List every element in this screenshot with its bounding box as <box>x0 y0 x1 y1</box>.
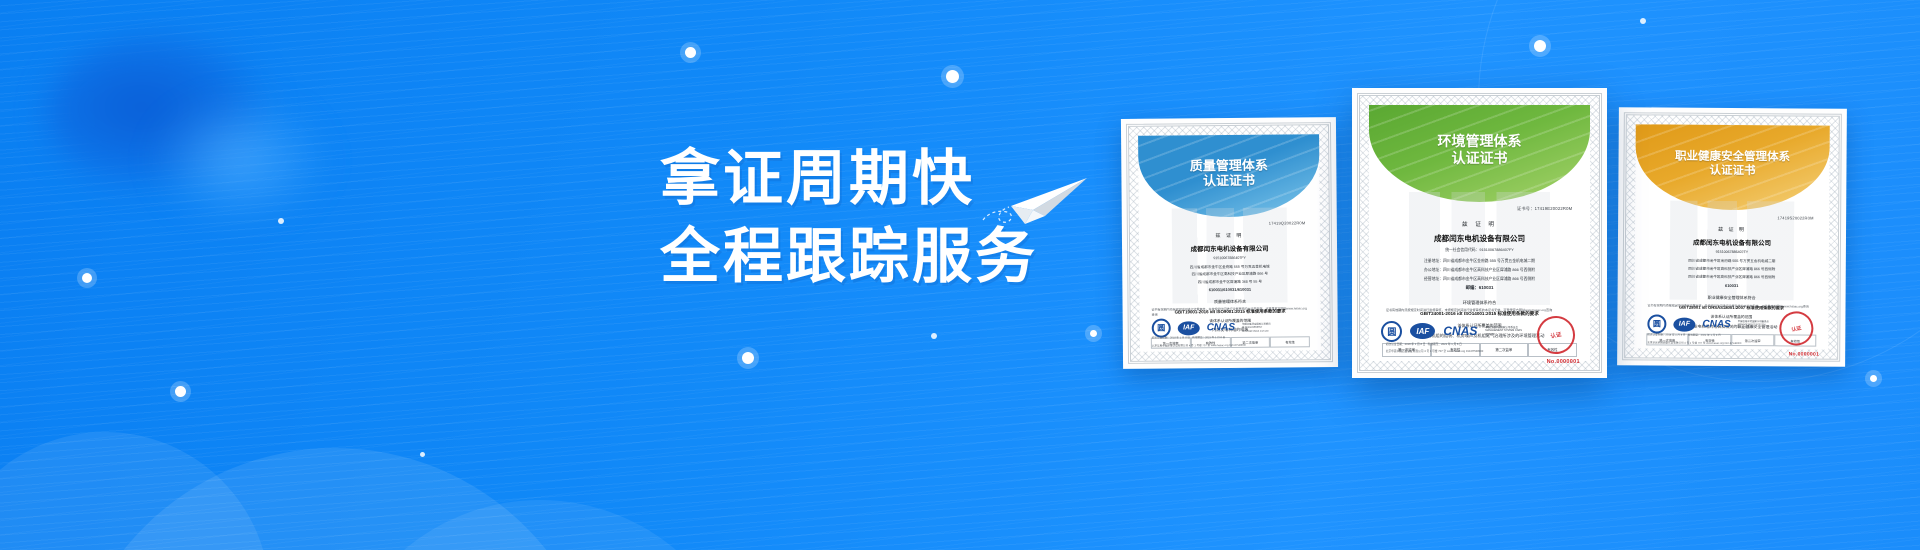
certificate-system-label: 质量管理体系符合 <box>1139 298 1320 306</box>
audit-cell: 第二次监审 <box>1731 334 1774 345</box>
certificate-proof-label: 兹 证 明 <box>1139 231 1320 240</box>
certificate-header: 环境管理体系 认证证书 <box>1369 105 1590 202</box>
certificate-title-line1: 环境管理体系 <box>1438 133 1522 150</box>
certificate-company: 成都闰东电机设备有限公司 <box>1139 242 1320 254</box>
certificate-title-line1: 职业健康安全管理体系 <box>1675 151 1790 165</box>
decor-dot <box>946 70 959 83</box>
certificate-scope-label: 该体系认证所覆盖的范围 <box>1140 318 1321 325</box>
certificate-number: 17419S20022R0M <box>1777 215 1813 220</box>
certificate-system-label: 环境管理体系符合 <box>1369 300 1590 306</box>
certificate-proof-label: 兹 证 明 <box>1369 220 1590 228</box>
certificate-system-label: 职业健康安全管理体系符合 <box>1635 295 1829 302</box>
background-blob-light <box>150 95 330 225</box>
certificate-quality[interactable]: 质量管理体系 认证证书 17419Q20022R0M 兹 证 明 成都闰东电机设… <box>1121 117 1338 369</box>
certificate-address-3: 经营地址：四川省成都市金牛区高科技产业区犀浦路 866 号西侧附 <box>1384 277 1574 282</box>
decor-dot <box>420 452 425 457</box>
certificate-title-line2: 认证证书 <box>1675 164 1790 178</box>
audit-cell: 有效性 <box>1528 343 1577 357</box>
certificate-scope: 内燃发电机组的组装、机房噪声及机组尾气治理所涉及的环境管理活动 <box>1369 333 1590 339</box>
audit-cell: 有效性 <box>1431 343 1480 357</box>
audit-cell: 第一次监审 <box>1151 337 1191 348</box>
certificate-group: 质量管理体系 认证证书 17419Q20022R0M 兹 证 明 成都闰东电机设… <box>1100 0 1920 550</box>
decor-dot <box>82 273 92 283</box>
certificate-address-1: 注册地址：四川省成都市金牛区金府路 555 号万贯五金机电城二期 <box>1384 259 1574 264</box>
audit-cell: 有效性 <box>1191 337 1231 348</box>
audit-cell: 有效性 <box>1774 335 1817 346</box>
promo-banner: 拿证周期快 全程跟踪服务 质量管理体系 认证证书 <box>0 0 1920 550</box>
decor-dot <box>1090 330 1097 337</box>
certificate-standard: GB/T24001-2016 idt ISO14001:2015 标准使用条款的… <box>1369 311 1590 317</box>
certificate-standard: GB/T19001-2016 idt ISO9001:2015 标准使用条款的要… <box>1140 308 1321 316</box>
audit-cell: 第一次监审 <box>1646 334 1689 345</box>
certificate-number: 17419Q20022R0M <box>1269 221 1306 226</box>
certificate-standard: GB/T28001 idt OHSAS18001:2007 标准使用条款的要求 <box>1634 305 1828 312</box>
decor-dot <box>742 352 754 364</box>
certificate-address-2: 办公地址：四川省成都市金牛区高科技产业区犀浦路 866 号西侧附 <box>1384 268 1574 273</box>
audit-cell: 第二次监审 <box>1230 337 1270 348</box>
audit-cell: 有效性 <box>1689 334 1732 345</box>
decor-dot <box>175 386 186 397</box>
certificate-credit-code: 统一社会信用代码：91510067886407FY <box>1384 248 1574 253</box>
certificate-title-line2: 认证证书 <box>1438 150 1522 167</box>
certificate-title-line1: 质量管理体系 <box>1190 157 1268 173</box>
audit-cell: 第二次监审 <box>1480 343 1529 357</box>
decor-dot <box>931 333 937 339</box>
audit-cell: 第一次监审 <box>1382 343 1431 357</box>
decor-dot <box>685 47 696 58</box>
certificate-postcode: 邮编：610031 <box>1384 285 1574 291</box>
certificate-environment[interactable]: 环境管理体系 认证证书 证书号：17419E20022R0M 兹 证 明 成都闰… <box>1352 88 1607 378</box>
certificate-company: 成都闰东电机设备有限公司 <box>1635 236 1829 247</box>
certificate-occupational-health[interactable]: 职业健康安全管理体系 认证证书 17419S20022R0M 兹 证 明 成都闰… <box>1617 107 1847 367</box>
certificate-scope-label: 该体系认证所覆盖的范围 <box>1369 323 1590 329</box>
certificate-number: 证书号：17419E20022R0M <box>1517 206 1572 212</box>
certificate-audit-grid: 第一次监审 有效性 第二次监审 有效性 <box>1382 343 1577 357</box>
certificate-header: 职业健康安全管理体系 认证证书 <box>1635 124 1830 210</box>
certificate-scope-label: 该体系认证所覆盖的范围 <box>1634 315 1828 321</box>
certificate-scope: 内燃发电机组的组装及相关的职业健康安全管理活动 <box>1634 324 1828 331</box>
certificate-company: 成都闰东电机设备有限公司 <box>1369 233 1590 244</box>
certificate-audit-grid: 第一次监审 有效性 第二次监审 有效性 <box>1151 336 1310 348</box>
certificate-audit-grid: 第一次监审 有效性 第二次监审 有效性 <box>1646 334 1817 346</box>
certificate-title-line2: 认证证书 <box>1190 173 1268 189</box>
paper-plane-icon <box>975 150 1095 230</box>
certificate-header: 质量管理体系 认证证书 <box>1138 134 1320 218</box>
decor-dot <box>278 218 284 224</box>
certificate-scope: 内燃发电机组的组装 <box>1140 326 1321 334</box>
audit-cell: 有效性 <box>1270 336 1310 347</box>
certificate-proof-label: 兹 证 明 <box>1635 225 1829 233</box>
